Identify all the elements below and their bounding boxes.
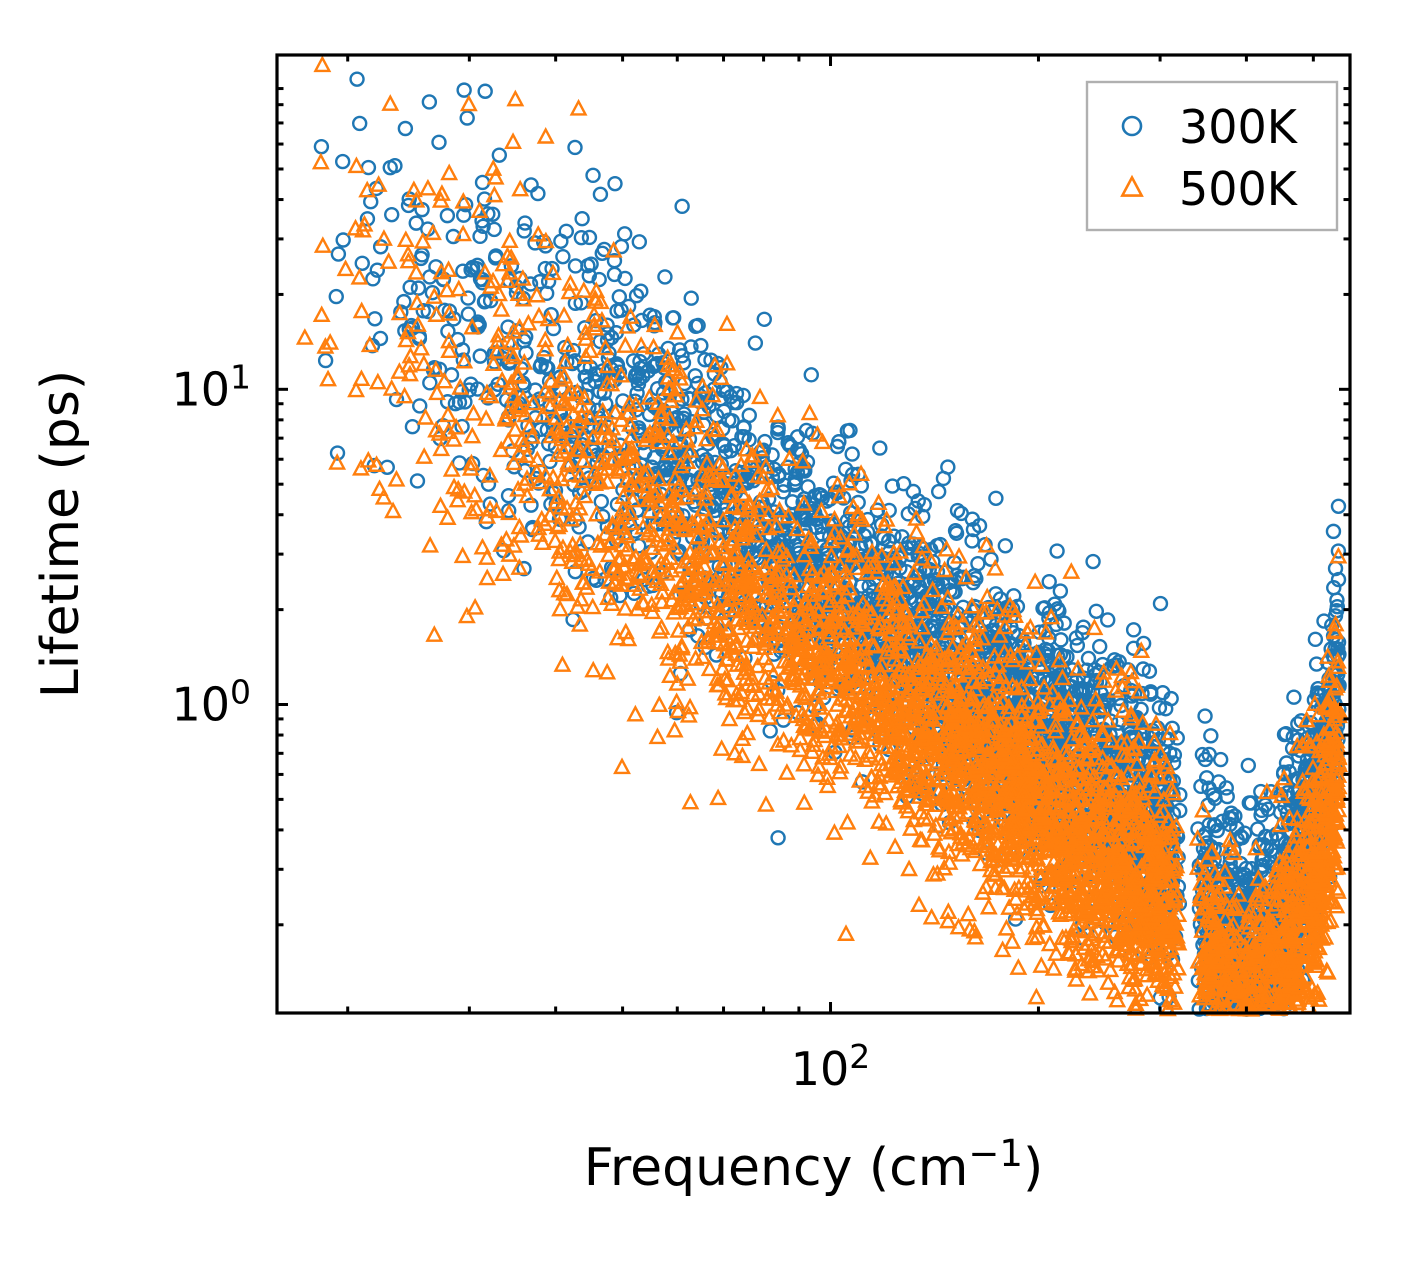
legend-label-300K: 300K bbox=[1179, 100, 1299, 154]
y-axis-label: Lifetime (ps) bbox=[31, 370, 91, 698]
legend[interactable]: 300K500K bbox=[1087, 82, 1337, 230]
figure-canvas: 102101100 Lifetime (ps) Frequency (cm−1)… bbox=[0, 0, 1408, 1265]
scatter-plot: 102101100 Lifetime (ps) Frequency (cm−1)… bbox=[0, 0, 1408, 1265]
legend-label-500K: 500K bbox=[1179, 162, 1299, 216]
